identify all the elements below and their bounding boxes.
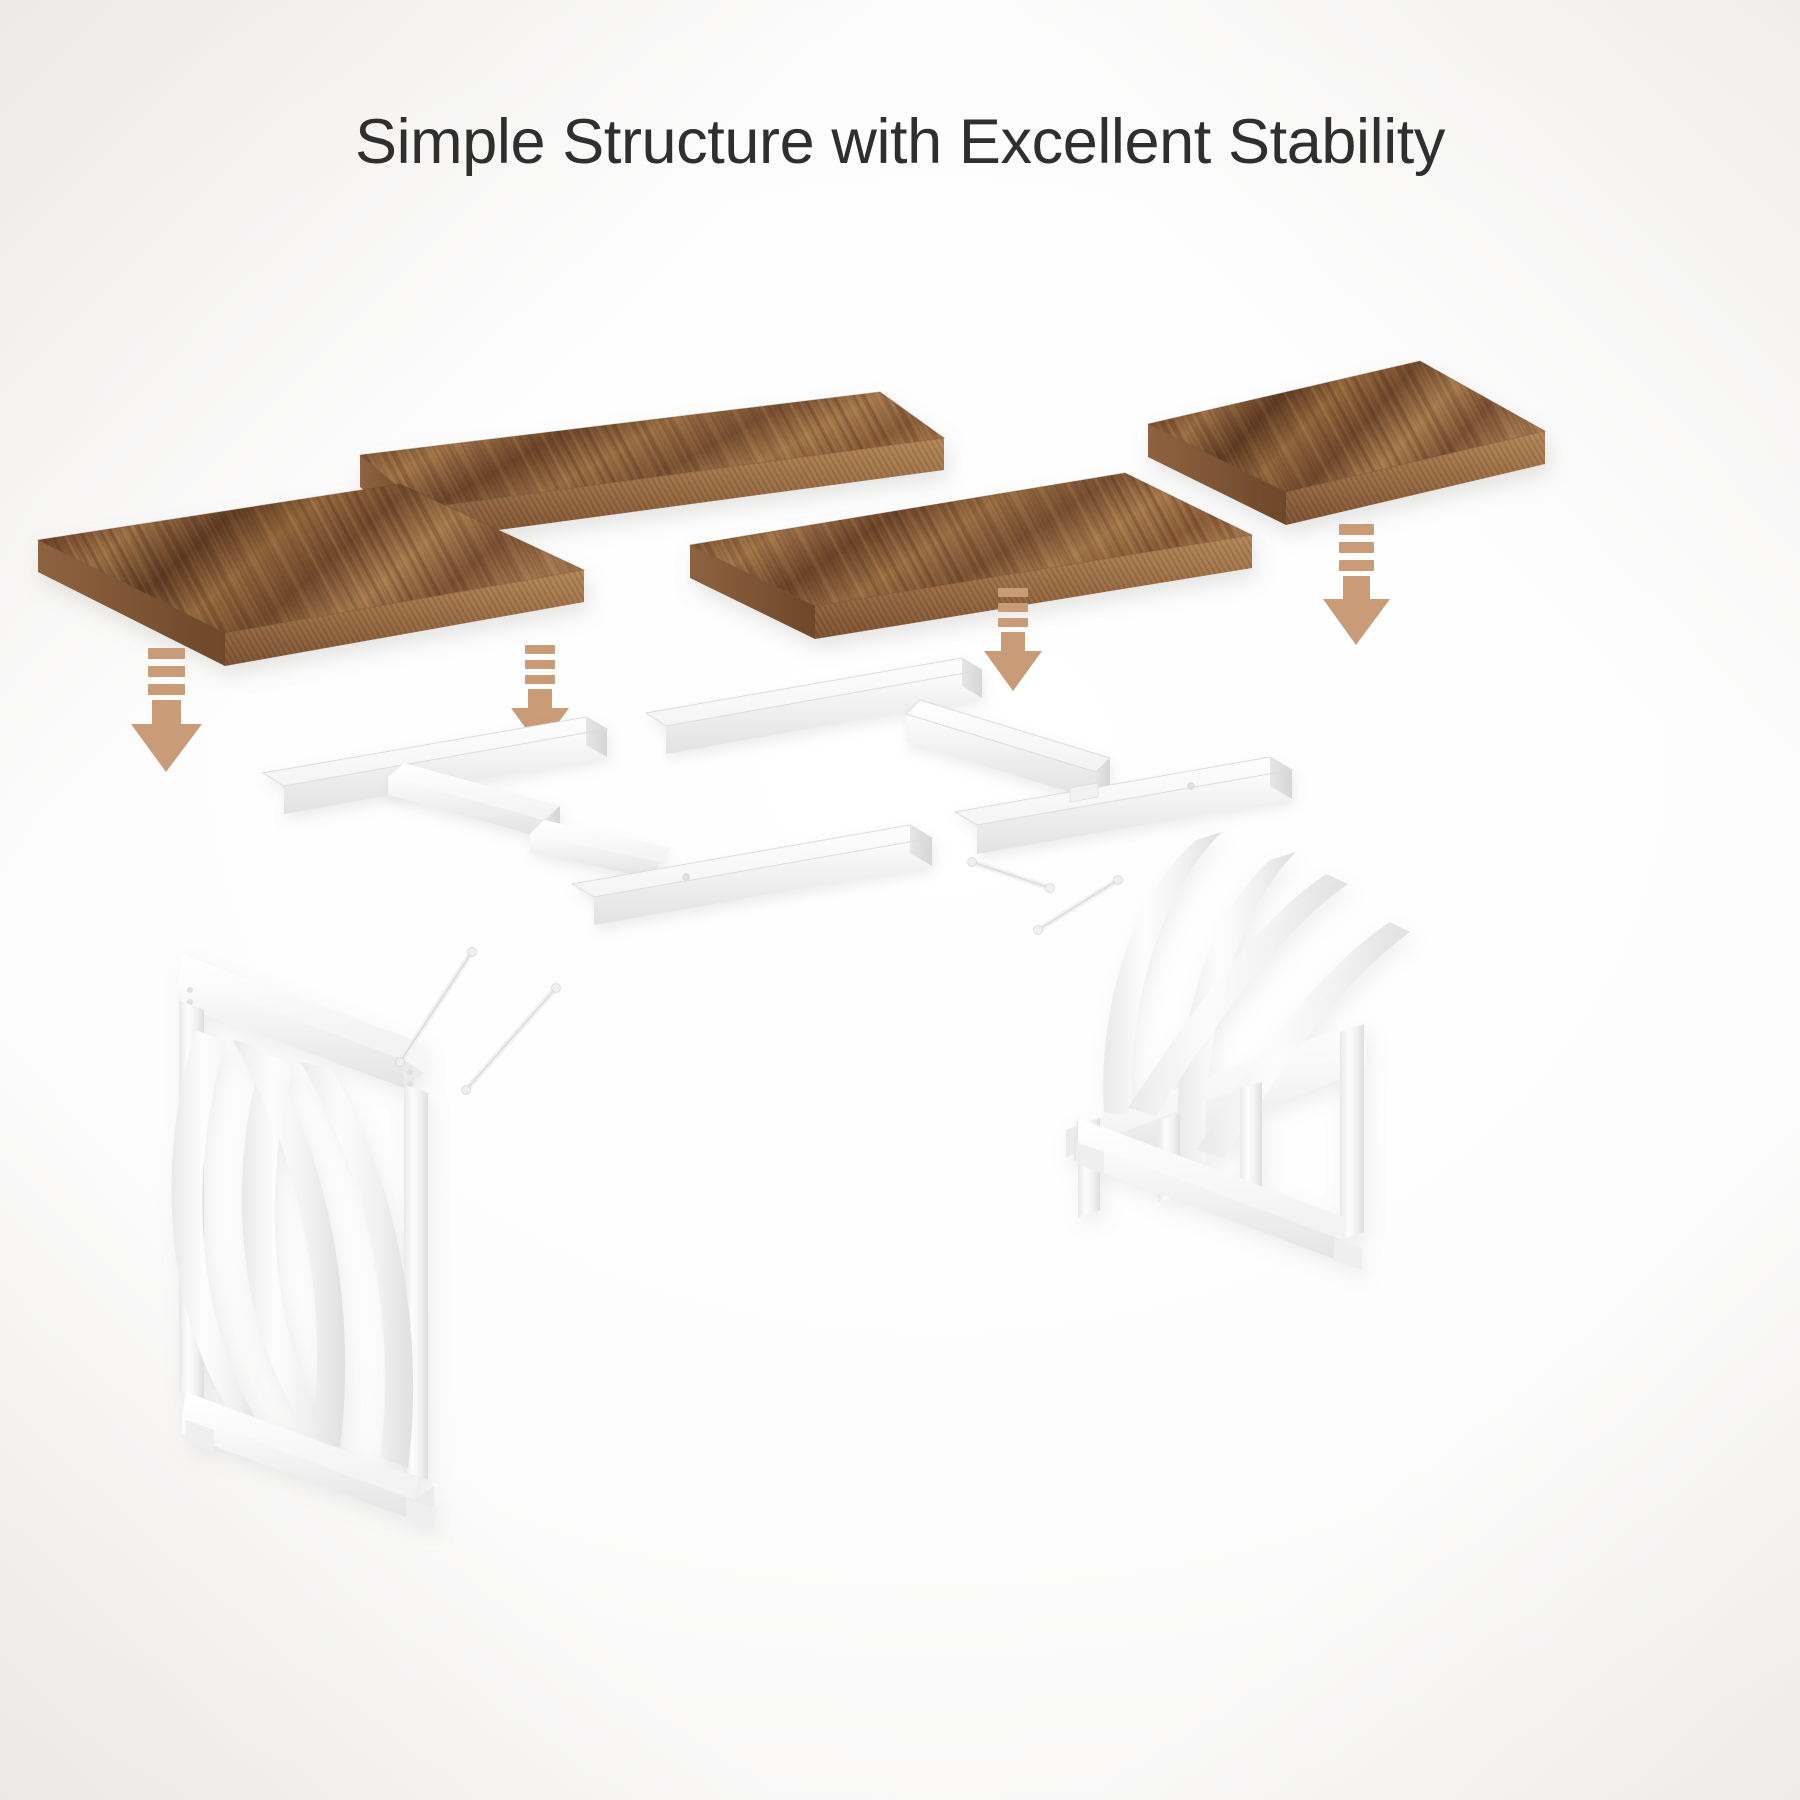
- tabletop-panels-layer: [0, 0, 1800, 1800]
- rod-cap-3: [552, 984, 561, 993]
- frame-rail-center-long[interactable]: [906, 700, 1110, 800]
- rod-cap-4: [462, 1086, 471, 1095]
- connector-rods-layer: [0, 0, 1800, 1800]
- assembly-arrow-1-icon: [131, 648, 202, 772]
- rod-cap-1: [468, 948, 477, 957]
- rod-cap-7: [1046, 884, 1055, 893]
- frame-rail-front-left[interactable]: [572, 825, 932, 925]
- frame-rail-back-right[interactable]: [646, 658, 982, 754]
- assembly-arrow-3-icon: [984, 588, 1042, 691]
- connector-rod-right-upper: [1038, 880, 1118, 930]
- trestle-legs-layer: [0, 0, 1800, 1800]
- leg-right-arc-3: [1128, 874, 1348, 1116]
- leg-left-arc-3: [232, 1040, 345, 1448]
- rod-cap-2: [396, 1058, 405, 1067]
- leg-right-arc-1: [1103, 832, 1222, 1116]
- page-title: Simple Structure with Excellent Stabilit…: [0, 106, 1800, 178]
- connector-rod-right-lower: [972, 862, 1050, 888]
- frame-rails-layer: [0, 0, 1800, 1800]
- leg-left-arc-1: [172, 1030, 264, 1432]
- tabletop-panel-back-right[interactable]: [1148, 361, 1545, 525]
- leg-right-arc-4: [1196, 922, 1410, 1158]
- rod-cap-5: [1114, 876, 1123, 885]
- tabletop-panel-front-right[interactable]: [690, 473, 1252, 639]
- rod-cap-8: [968, 858, 977, 867]
- leg-left-arc-4: [300, 1062, 413, 1468]
- frame-rail-cross-brace[interactable]: [388, 763, 672, 880]
- connector-rod-left-upper: [400, 952, 472, 1062]
- assembly-arrow-4-icon: [1323, 524, 1390, 645]
- leg-right-arc-2: [1177, 852, 1296, 1162]
- diagram-canvas: Simple Structure with Excellent Stabilit…: [0, 0, 1800, 1800]
- trestle-leg-left[interactable]: [172, 955, 434, 1530]
- trestle-leg-right[interactable]: [1066, 832, 1410, 1270]
- connector-rod-left-lower: [466, 988, 556, 1090]
- rod-cap-6: [1034, 926, 1043, 935]
- assembly-arrow-2-icon: [511, 645, 569, 748]
- assembly-arrows-layer: [0, 0, 1800, 1800]
- tabletop-panel-front-left[interactable]: [38, 484, 584, 666]
- frame-rail-front-right[interactable]: [955, 757, 1292, 854]
- leg-left-arc-2: [242, 1052, 336, 1444]
- tabletop-panel-back-left[interactable]: [360, 392, 944, 540]
- frame-rail-back-left[interactable]: [263, 717, 607, 814]
